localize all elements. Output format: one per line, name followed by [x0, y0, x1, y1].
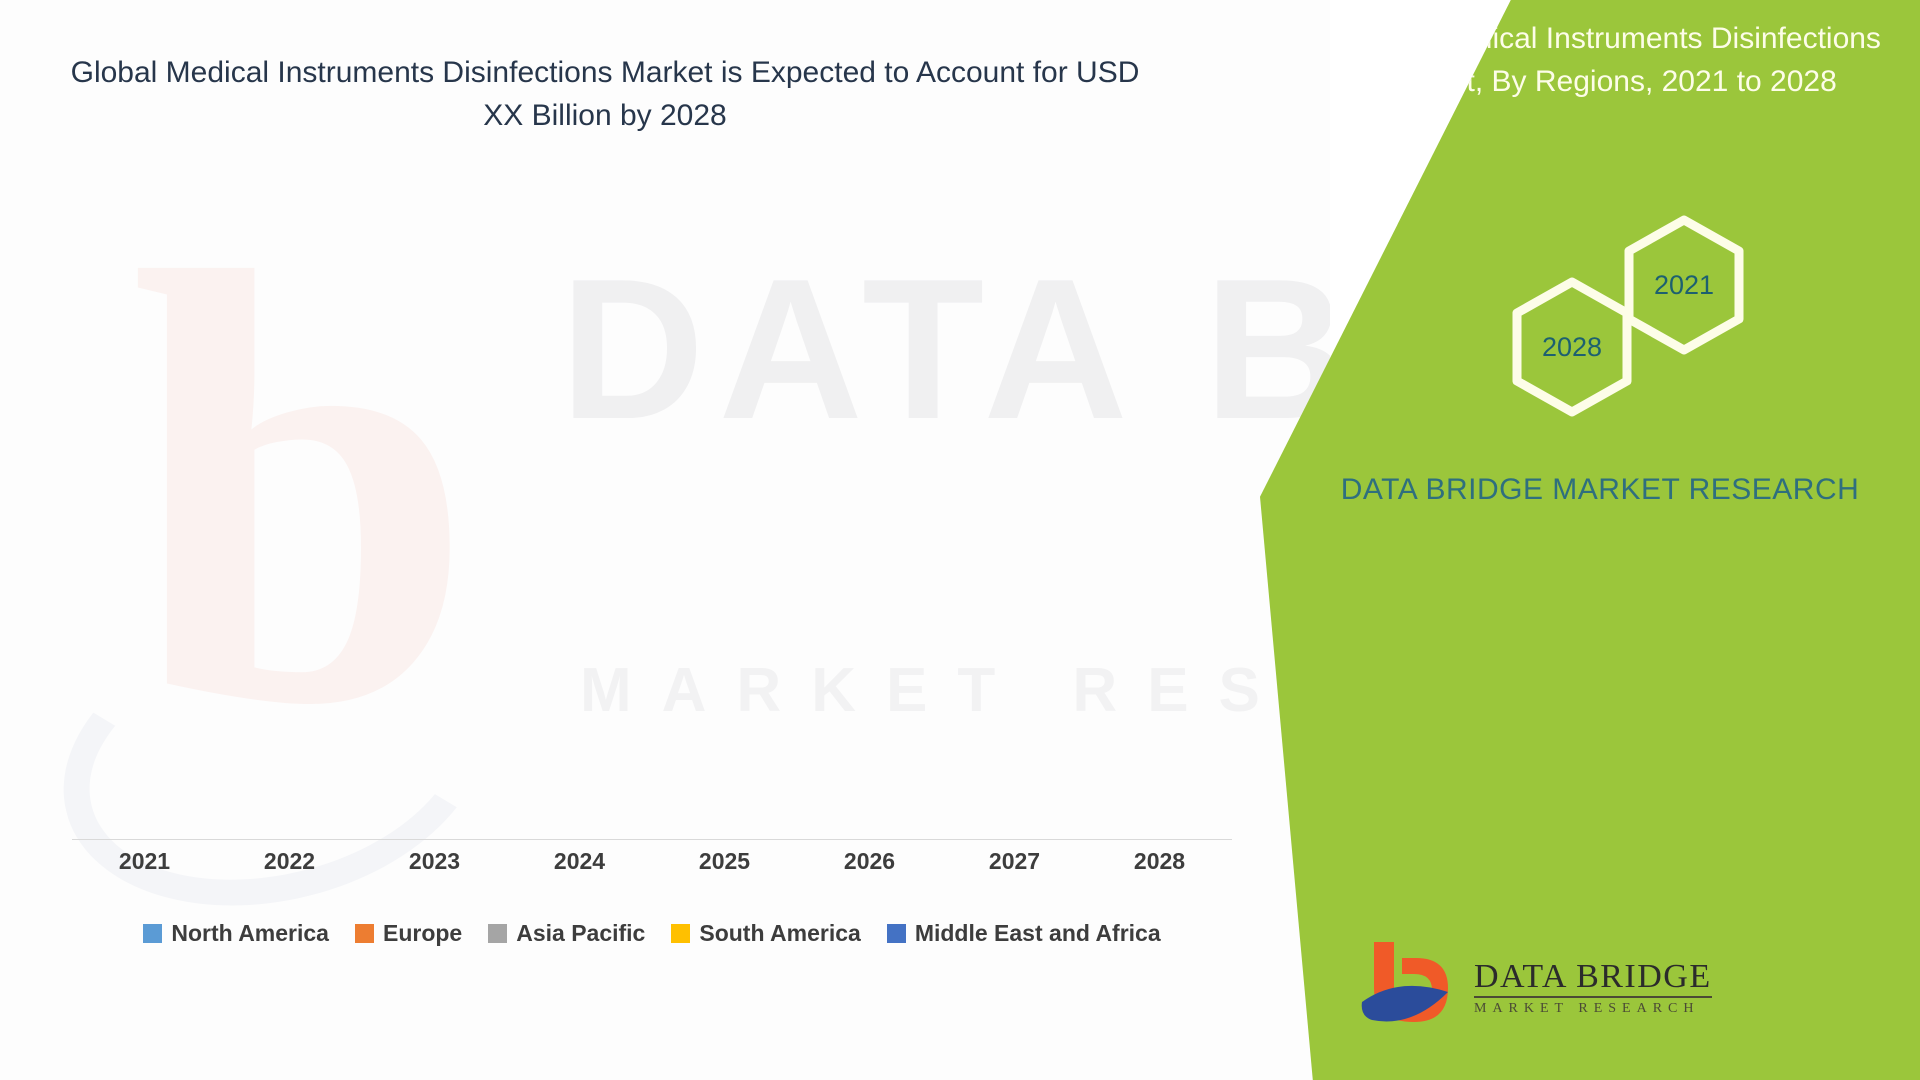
logo-divider: [1474, 996, 1712, 998]
x-tick-2027: 2027: [965, 848, 1065, 875]
bar-column-2025[interactable]: [675, 210, 775, 840]
chart-panel: b DATA BRIDGE MARKET RESEARCH Global Med…: [0, 0, 1330, 1080]
bar-series-container: [72, 210, 1232, 840]
legend-swatch-icon: [887, 924, 906, 943]
x-axis-line: [72, 839, 1232, 840]
branding-panel: Global Medical Instruments Disinfections…: [1260, 0, 1920, 1080]
infographic-root: b DATA BRIDGE MARKET RESEARCH Global Med…: [0, 0, 1920, 1080]
hexagon-group: 2021 2028: [1490, 215, 1790, 405]
legend-item-middle-east-and-africa[interactable]: Middle East and Africa: [887, 920, 1161, 947]
legend-label: Europe: [383, 920, 462, 947]
panel-heading: Global Medical Instruments Disinfections…: [1330, 18, 1890, 103]
bar-column-2027[interactable]: [965, 210, 1065, 840]
legend-swatch-icon: [355, 924, 374, 943]
legend-swatch-icon: [671, 924, 690, 943]
chart-legend: North AmericaEuropeAsia PacificSouth Ame…: [72, 920, 1232, 947]
bar-column-2024[interactable]: [530, 210, 630, 840]
hexagon-2028-label: 2028: [1542, 332, 1602, 363]
x-tick-2026: 2026: [820, 848, 920, 875]
x-tick-2023: 2023: [385, 848, 485, 875]
x-axis-tick-labels: 20212022202320242025202620272028: [72, 848, 1232, 875]
legend-item-europe[interactable]: Europe: [355, 920, 462, 947]
logo-subtitle: MARKET RESEARCH: [1474, 1001, 1712, 1017]
x-tick-2021: 2021: [95, 848, 195, 875]
bar-column-2022[interactable]: [240, 210, 340, 840]
hexagon-2021-label: 2021: [1654, 270, 1714, 301]
x-tick-2025: 2025: [675, 848, 775, 875]
legend-swatch-icon: [488, 924, 507, 943]
chart-title: Global Medical Instruments Disinfections…: [60, 52, 1150, 137]
hexagon-2021: 2021: [1622, 215, 1746, 355]
legend-item-asia-pacific[interactable]: Asia Pacific: [488, 920, 645, 947]
plot-area: [72, 210, 1232, 840]
bar-column-2026[interactable]: [820, 210, 920, 840]
company-logo: DATA BRIDGE MARKET RESEARCH: [1356, 934, 1826, 1038]
logo-title: DATA BRIDGE: [1474, 959, 1712, 995]
bar-column-2023[interactable]: [385, 210, 485, 840]
legend-label: North America: [171, 920, 329, 947]
legend-swatch-icon: [143, 924, 162, 943]
legend-label: South America: [699, 920, 860, 947]
legend-label: Middle East and Africa: [915, 920, 1161, 947]
legend-label: Asia Pacific: [516, 920, 645, 947]
logo-wordmark: DATA BRIDGE MARKET RESEARCH: [1474, 955, 1712, 1018]
bar-column-2021[interactable]: [95, 210, 195, 840]
hexagon-2028: 2028: [1510, 277, 1634, 417]
legend-item-south-america[interactable]: South America: [671, 920, 860, 947]
brand-name-text: DATA BRIDGE MARKET RESEARCH: [1320, 468, 1880, 512]
bar-column-2028[interactable]: [1110, 210, 1210, 840]
legend-item-north-america[interactable]: North America: [143, 920, 329, 947]
logo-mark-icon: [1356, 936, 1460, 1036]
x-tick-2024: 2024: [530, 848, 630, 875]
x-tick-2022: 2022: [240, 848, 340, 875]
x-tick-2028: 2028: [1110, 848, 1210, 875]
